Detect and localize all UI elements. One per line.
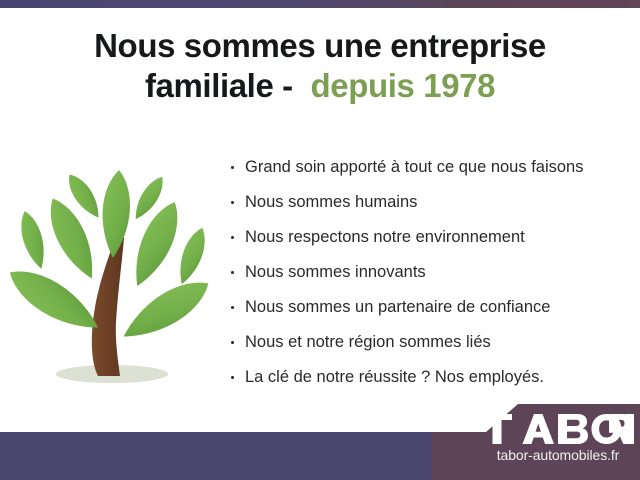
value-bullet-list: Grand soin apporté à tout ce que nous fa… xyxy=(228,150,628,395)
list-item: Nous respectons notre environnement xyxy=(228,220,628,255)
list-item: Nous sommes innovants xyxy=(228,255,628,290)
tree-illustration xyxy=(8,152,220,396)
headline-line-1: Nous sommes une entreprise xyxy=(0,26,640,66)
list-item: Nous et notre région sommes liés xyxy=(228,325,628,360)
page-title: Nous sommes une entreprise familiale - d… xyxy=(0,26,640,107)
headline-accent: depuis 1978 xyxy=(311,67,496,104)
list-item: Grand soin apporté à tout ce que nous fa… xyxy=(228,150,628,185)
list-item: Nous sommes un partenaire de confiance xyxy=(228,290,628,325)
tabor-wordmark-icon xyxy=(482,414,634,444)
list-item: Nous sommes humains xyxy=(228,185,628,220)
headline-line-2: familiale - depuis 1978 xyxy=(0,66,640,106)
list-item: La clé de notre réussite ? Nos employés. xyxy=(228,360,628,395)
slide-canvas: Nous sommes une entreprise familiale - d… xyxy=(0,0,640,480)
website-url: tabor-automobiles.fr xyxy=(482,447,634,463)
headline-line-2-main: familiale - xyxy=(145,67,302,104)
brand-logo: tabor-automobiles.fr xyxy=(482,414,634,463)
top-accent-bar xyxy=(0,0,640,8)
